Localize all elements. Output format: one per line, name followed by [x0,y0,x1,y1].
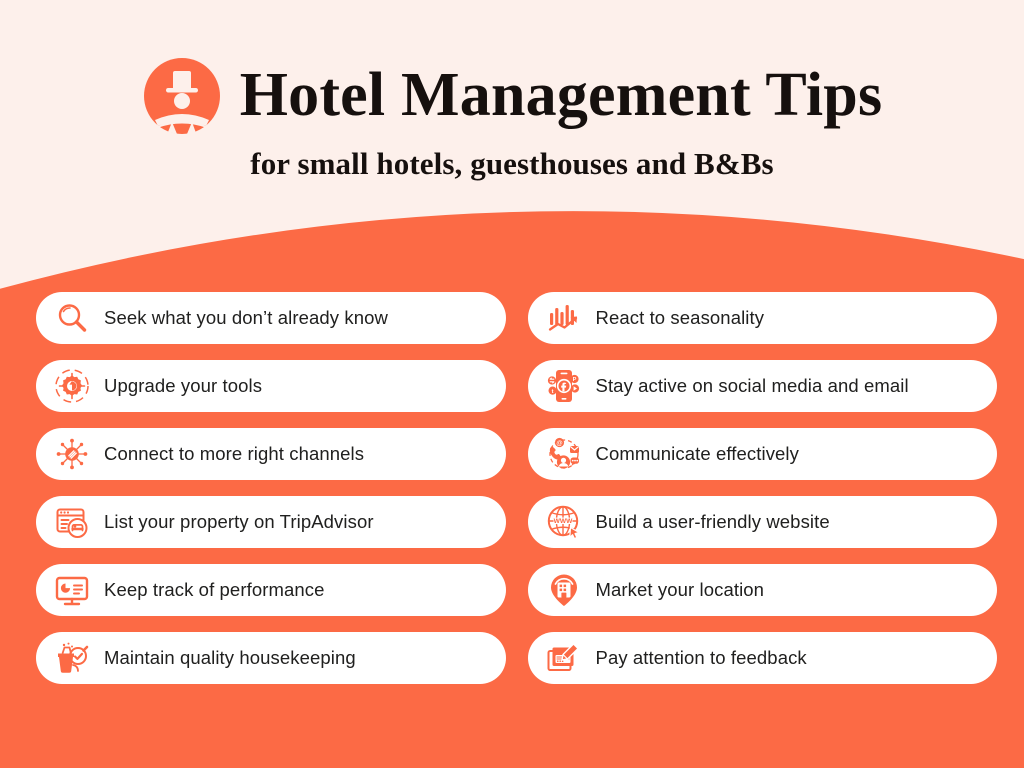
tip-item[interactable]: Maintain quality housekeeping [36,632,506,684]
tip-item[interactable]: Connect to more right channels [36,428,506,480]
tip-label: Stay active on social media and email [596,375,909,397]
tip-item[interactable]: React to seasonality [528,292,998,344]
tip-label: Seek what you don’t already know [104,307,388,329]
tip-label: Communicate effectively [596,443,800,465]
svg-text:t: t [551,389,553,395]
tip-item[interactable]: Seek what you don’t already know [36,292,506,344]
tip-label: Keep track of performance [104,579,325,601]
tip-item[interactable]: Upgrade your tools [36,360,506,412]
page-subtitle: for small hotels, guesthouses and B&Bs [0,146,1024,182]
tips-left-column: Seek what you don’t already know Upgrade… [36,292,506,684]
poster-header: Hotel Management Tips for small hotels, … [0,0,1024,182]
tip-label: Upgrade your tools [104,375,262,397]
magnifying-glass-icon [52,298,92,338]
infographic-poster: Hotel Management Tips for small hotels, … [0,0,1024,768]
tip-item[interactable]: P t Stay active on social media and emai… [528,360,998,412]
document-pencil-icon [544,638,584,678]
network-channels-icon [52,434,92,474]
tips-grid: Seek what you don’t already know Upgrade… [0,292,1024,684]
listing-bed-window-icon [52,502,92,542]
concierge-top-hat-icon [142,56,222,136]
communication-bubbles-icon: @ [544,434,584,474]
svg-text:WWW: WWW [553,518,572,525]
bar-chart-arrow-icon [544,298,584,338]
tip-item[interactable]: WWW Build a user-friendly website [528,496,998,548]
tip-label: Connect to more right channels [104,443,364,465]
phone-social-media-icon: P t [544,366,584,406]
gear-upgrade-icon [52,366,92,406]
tip-item[interactable]: @ [528,428,998,480]
tip-label: React to seasonality [596,307,765,329]
globe-www-cursor-icon: WWW [544,502,584,542]
tip-item[interactable]: Pay attention to feedback [528,632,998,684]
tip-label: Pay attention to feedback [596,647,807,669]
svg-text:@: @ [556,440,562,447]
monitor-chart-icon [52,570,92,610]
cleaning-bucket-icon [52,638,92,678]
page-title: Hotel Management Tips [240,64,883,127]
tip-label: List your property on TripAdvisor [104,511,374,533]
tip-item[interactable]: List your property on TripAdvisor [36,496,506,548]
tip-item[interactable]: Market your location [528,564,998,616]
svg-text:P: P [572,377,576,383]
tip-label: Build a user-friendly website [596,511,830,533]
tip-label: Market your location [596,579,765,601]
map-pin-hotel-icon [544,570,584,610]
title-row: Hotel Management Tips [0,56,1024,136]
tip-label: Maintain quality housekeeping [104,647,356,669]
tip-item[interactable]: Keep track of performance [36,564,506,616]
tips-right-column: React to seasonality P t [528,292,998,684]
